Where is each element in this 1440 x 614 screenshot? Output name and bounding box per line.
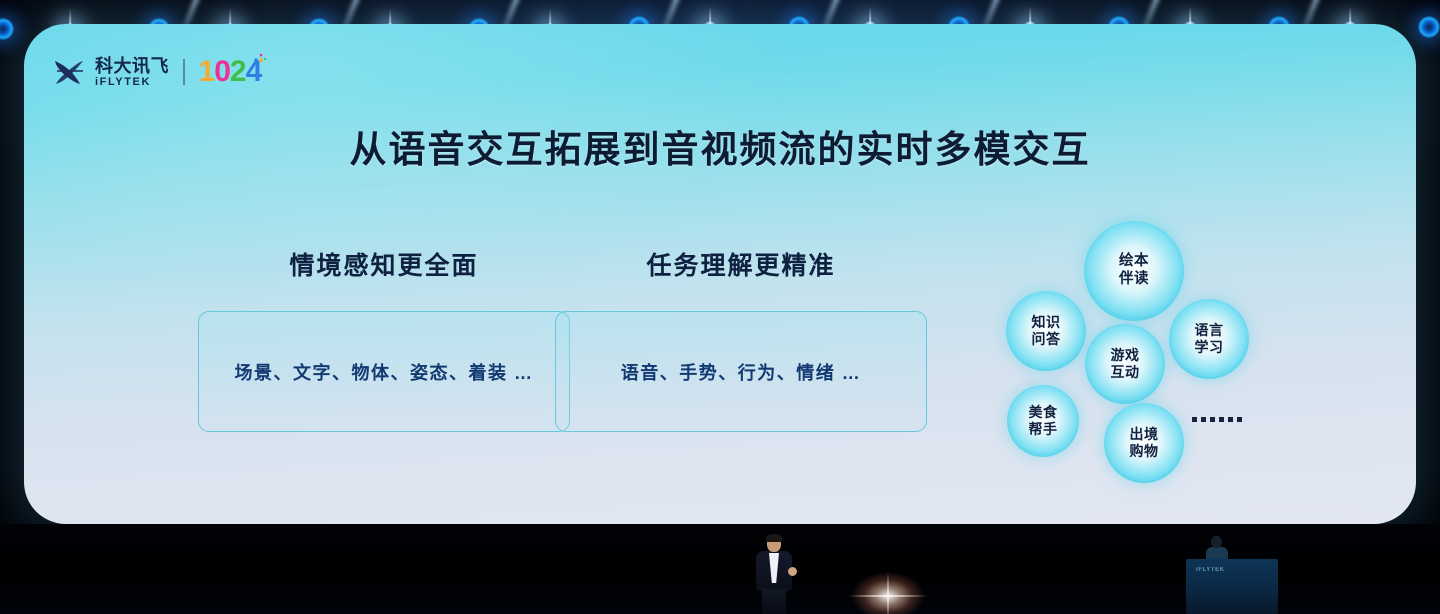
blue-ring-light [1418,16,1440,38]
presenter-hand [788,567,797,576]
column-title: 情境感知更全面 [198,246,570,282]
column-task-understanding: 任务理解更精准 语音、手势、行为、情绪 … [555,246,927,432]
podium-attendee-head [1211,536,1222,548]
bubble-label: 知识 问答 [1032,314,1061,348]
sparkle-icon [252,51,268,65]
ellipsis-dot [1237,417,1242,422]
column-box-text: 语音、手势、行为、情绪 … [621,359,862,385]
iflytek-x-mark [52,57,88,87]
ellipsis-dot [1192,417,1197,422]
bubble-label: 游戏 互动 [1111,347,1140,381]
ellipsis-dot [1219,417,1224,422]
use-case-bubble-cluster: 绘本 伴读 知识 问答 语言 学习 游戏 互动 美食 帮手 出境 购物 [979,199,1289,499]
presenter-hair [766,534,782,542]
column-box: 场景、文字、物体、姿态、着装 … [198,311,570,432]
column-box-text: 场景、文字、物体、姿态、着装 … [235,359,534,385]
ellipsis-dot [1210,417,1215,422]
stage-light-flare [852,572,924,614]
ellipsis-dot [1201,417,1206,422]
presentation-slide: 科大讯飞 iFLYTEK 1 0 2 4 从语音交互拓展到音视频流的实时多模交互 [24,24,1416,524]
column-box: 语音、手势、行为、情绪 … [555,311,927,432]
logo-digit-0: 0 [214,57,230,87]
column-context-perception: 情境感知更全面 场景、文字、物体、姿态、着装 … [198,246,570,432]
bubble-label: 语言 学习 [1195,322,1224,356]
logo-digit-1: 1 [199,57,215,87]
column-title: 任务理解更精准 [555,246,927,282]
presenter-legs [762,589,786,614]
bubble-overseas-shopping: 出境 购物 [1104,403,1184,483]
bubble-label: 出境 购物 [1130,426,1159,460]
logo-divider [183,59,185,85]
logo-lockup: 科大讯飞 iFLYTEK 1 0 2 4 [52,52,261,92]
stage-scene: 科大讯飞 iFLYTEK 1 0 2 4 从语音交互拓展到音视频流的实时多模交互 [0,0,1440,614]
lectern-logo: iFLYTEK [1196,567,1225,573]
ellipsis-indicator [1192,417,1242,422]
bubble-language-learning: 语言 学习 [1169,299,1249,379]
ellipsis-dot [1228,417,1233,422]
bubble-picture-book-reading: 绘本 伴读 [1084,221,1184,321]
iflytek-logo: 科大讯飞 iFLYTEK [52,57,169,88]
logo-digit-2: 2 [230,57,246,87]
blue-ring-light [0,18,14,40]
bubble-game-interaction: 游戏 互动 [1085,324,1165,404]
bubble-label: 美食 帮手 [1029,404,1058,438]
bubble-knowledge-qa: 知识 问答 [1006,291,1086,371]
presenter-figure [752,536,796,614]
bubble-label: 绘本 伴读 [1119,253,1149,288]
brand-name-cn: 科大讯飞 [95,57,169,75]
slide-headline: 从语音交互拓展到音视频流的实时多模交互 [24,119,1416,173]
lectern: iFLYTEK [1186,559,1278,614]
brand-name-en: iFLYTEK [95,77,169,88]
event-logo-1024: 1 0 2 4 [199,57,262,87]
bubble-food-assistant: 美食 帮手 [1007,385,1079,457]
iflytek-wordmark: 科大讯飞 iFLYTEK [95,57,169,88]
